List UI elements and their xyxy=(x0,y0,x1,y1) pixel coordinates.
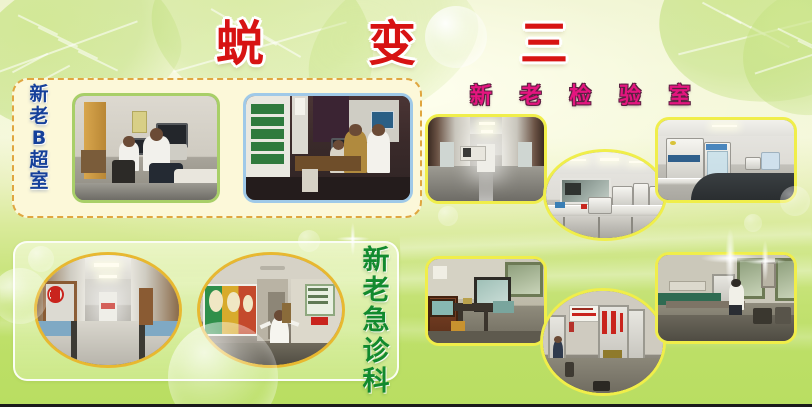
photo-new-ultrasound-room xyxy=(72,93,220,203)
photo-new-lab-instruments xyxy=(543,149,667,241)
emergency-label-char-0: 新 xyxy=(356,246,396,276)
photo-new-lab-biosafety xyxy=(655,117,797,203)
emergency-label-char-2: 急 xyxy=(356,306,396,336)
bubble-small-lab xyxy=(438,206,458,226)
photo-old-lab-bench xyxy=(425,256,547,346)
photo-old-lab-worker xyxy=(655,252,797,344)
page-title: 蜕 变 三 xyxy=(0,4,812,74)
ultrasound-label-char-4: 室 xyxy=(22,171,56,193)
ultrasound-label-char-2: B xyxy=(22,128,56,150)
photo-old-ultrasound-room xyxy=(243,93,413,203)
photo-alt-list: 新检验室走廊 新检验室仪器台 新检验室生物安全柜 老检验室工作台 老检验室大厅 … xyxy=(0,0,1,1)
lab-section-caption: 新 老 检 验 室 xyxy=(470,78,701,110)
emergency-label-char-3: 诊 xyxy=(356,337,396,367)
photo-old-lab-hall xyxy=(540,288,666,396)
emergency-label-char-4: 科 xyxy=(356,367,396,397)
emergency-label-char-1: 老 xyxy=(356,276,396,306)
photo-old-emergency-corridor xyxy=(197,252,345,368)
ultrasound-label-char-0: 新 xyxy=(22,84,56,106)
photo-new-lab-corridor xyxy=(425,114,547,204)
ultrasound-section-label: 新 老 B 超 室 xyxy=(22,84,56,193)
ultrasound-label-char-3: 超 xyxy=(22,150,56,172)
poster-canvas: 蜕 变 三 新 老 检 验 室 新 老 B 超 室 xyxy=(0,0,812,407)
emergency-section-label: 新 老 急 诊 科 xyxy=(356,246,396,397)
photo-new-emergency-corridor xyxy=(34,252,182,368)
ultrasound-label-char-1: 老 xyxy=(22,106,56,128)
